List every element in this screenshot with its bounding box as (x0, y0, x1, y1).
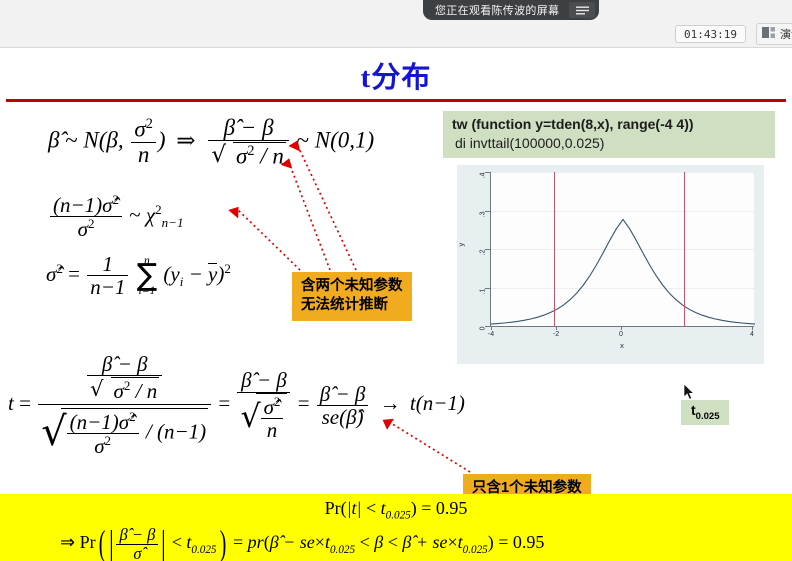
vline-upper-critical (684, 172, 685, 327)
x-tick-label: -4 (488, 331, 494, 338)
callout-line-2: 无法统计推断 (301, 296, 403, 315)
mouse-cursor-icon (684, 384, 695, 400)
y-tick-label: .1 (480, 288, 487, 314)
meeting-timer-value: 01:43:19 (684, 28, 737, 41)
slide-canvas: t分布 β̂ ~ N(β, σ2n) ⇒ β̂ − β √σ2 / n ~ N(… (0, 48, 792, 561)
x-tick-label: 4 (750, 331, 754, 338)
hamburger-menu-icon[interactable] (569, 2, 595, 18)
presenter-view-label: 演讲者 (780, 26, 792, 42)
t-density-chart: .4 .3 .2 .1 0 y -4 -2 0 4 x (457, 165, 764, 364)
chart-plot-area (490, 172, 754, 326)
viewing-screen-notice[interactable]: 您正在观看陈传波的屏幕 (423, 0, 599, 20)
callout-line-1: 含两个未知参数 (301, 277, 403, 296)
probability-statement-2: ⇒ Pr(|β̂ − βσ̂| < t0.025) = pr(β̂ − se×t… (60, 526, 544, 561)
beta-hat-symbol: β̂ (48, 128, 59, 153)
callout-two-unknown-params: 含两个未知参数 无法统计推断 (292, 272, 412, 321)
vline-lower-critical (554, 172, 555, 327)
zoom-toolbar: 您正在观看陈传波的屏幕 01:43:19 (0, 0, 792, 48)
implies-arrow: ⇒ (171, 128, 200, 153)
y-tick-label: .3 (480, 211, 487, 237)
page-title: t分布 (0, 54, 792, 96)
chart-x-axis (490, 326, 754, 327)
y-tick-label: .2 (480, 250, 487, 276)
x-axis-title: x (620, 341, 624, 350)
y-tick-label: 0 (480, 327, 487, 353)
tends-to-arrow: → (376, 391, 405, 415)
presenter-view-button[interactable]: 演讲者 (756, 23, 792, 45)
stata-command-line-2: di invttail(100000,0.025) (452, 134, 769, 153)
y-tick-label: .4 (480, 173, 487, 199)
formula-sigma-hat: σ̂2 = 1n−1 ∑ni=1 (yi − y)2 (46, 253, 231, 299)
screen-share-view: 您正在观看陈传波的屏幕 01:43:19 (0, 0, 792, 561)
x-tick-label: 0 (619, 331, 623, 338)
formula-t-statistic: t = β̂ − β√σ2 / n √ (n−1)σ̂2σ2 / (n−1) =… (8, 353, 465, 458)
probability-statement-1: Pr(|t| < t0.025) = 0.95 (0, 498, 792, 522)
conclusion-band: Pr(|t| < t0.025) = 0.95 ⇒ Pr(|β̂ − βσ̂| … (0, 494, 792, 561)
x-tick-label: -2 (553, 331, 559, 338)
zoom-toolbar-right: 01:43:19 演讲者 (0, 20, 792, 48)
summation-symbol: ∑ni=1 (137, 263, 158, 289)
t-subscript: 0.025 (696, 411, 720, 422)
meeting-timer: 01:43:19 (675, 25, 746, 43)
formula-chi-square: (n−1)σ̂2 σ2 ~ χ2n−1 (48, 193, 183, 241)
screen-share-icon (762, 27, 775, 42)
y-axis-title: y (456, 243, 465, 247)
t-density-curve (491, 172, 755, 326)
t-critical-value-label: t0.025 (681, 400, 729, 425)
standard-normal: N(0,1) (315, 128, 374, 153)
stata-command-line-1: tw (function y=tden(8,x), range(-4 4)) (452, 115, 769, 134)
standardized-ratio: β̂ − β √σ2 / n (208, 116, 289, 169)
formula-beta-normal: β̂ ~ N(β, σ2n) ⇒ β̂ − β √σ2 / n ~ N(0,1) (48, 116, 374, 169)
t-se-form: β̂ − β se(β̂) (317, 383, 369, 429)
normal-dist: N(β, (83, 128, 129, 153)
title-divider (6, 99, 786, 102)
t-distribution: t(n−1) (410, 391, 465, 415)
stata-command-box: tw (function y=tden(8,x), range(-4 4)) d… (443, 111, 775, 158)
viewing-screen-text: 您正在观看陈传波的屏幕 (435, 2, 559, 18)
chi-square-symbol: χ2n−1 (146, 203, 184, 227)
